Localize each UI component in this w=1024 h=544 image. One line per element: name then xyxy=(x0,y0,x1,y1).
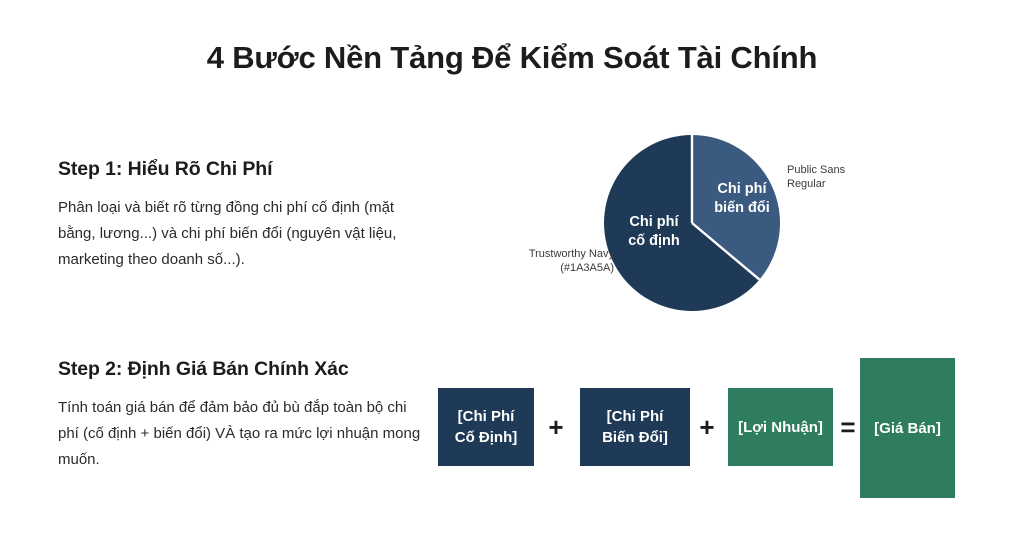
formula-term-profit-label: [Lợi Nhuận] xyxy=(738,417,823,438)
step-1-heading: Step 1: Hiểu Rõ Chi Phí xyxy=(58,158,430,181)
annotation-navy-color-line1: Trustworthy Navy xyxy=(529,248,614,260)
annotation-font-note-line2: Regular xyxy=(787,178,826,190)
step-2-block: Step 2: Định Giá Bán Chính Xác Tính toán… xyxy=(58,358,430,473)
pie-label-fixed-cost-line2: cố định xyxy=(628,233,680,249)
annotation-navy-color: Trustworthy Navy (#1A3A5A) xyxy=(486,247,614,275)
slide-canvas: 4 Bước Nền Tảng Để Kiểm Soát Tài Chính S… xyxy=(0,0,1024,544)
formula-term-selling-price-label: [Giá Bán] xyxy=(874,418,941,439)
page-title: 4 Bước Nền Tảng Để Kiểm Soát Tài Chính xyxy=(0,40,1024,76)
pie-label-variable-cost: Chi phí biến đổi xyxy=(700,180,784,218)
step-2-body: Tính toán giá bán để đảm bảo đủ bù đắp t… xyxy=(58,395,430,473)
formula-term-selling-price: [Giá Bán] xyxy=(860,358,955,498)
formula-term-fixed-cost-line1: [Chi Phí xyxy=(458,408,515,425)
annotation-font-note: Public Sans Regular xyxy=(787,163,907,191)
formula-term-variable-cost: [Chi Phí Biến Đổi] xyxy=(580,388,690,466)
pie-label-variable-cost-line2: biến đổi xyxy=(714,200,770,216)
pie-label-fixed-cost-line1: Chi phí xyxy=(629,214,678,230)
formula-term-variable-cost-line2: Biến Đổi] xyxy=(602,429,668,446)
pricing-formula: [Chi Phí Cố Định] + [Chi Phí Biến Đổi] +… xyxy=(425,340,1000,515)
step-1-body: Phân loại và biết rõ từng đồng chi phí c… xyxy=(58,195,430,273)
step-1-block: Step 1: Hiểu Rõ Chi Phí Phân loại và biế… xyxy=(58,158,430,273)
pie-label-variable-cost-line1: Chi phí xyxy=(717,181,766,197)
formula-operator-equals: = xyxy=(835,388,861,466)
formula-operator-plus-2: + xyxy=(694,388,720,466)
formula-term-fixed-cost-line2: Cố Định] xyxy=(455,429,517,446)
formula-term-fixed-cost: [Chi Phí Cố Định] xyxy=(438,388,534,466)
pie-label-fixed-cost: Chi phí cố định xyxy=(608,213,700,251)
formula-term-variable-cost-line1: [Chi Phí xyxy=(607,408,664,425)
formula-operator-plus-1: + xyxy=(543,388,569,466)
formula-term-profit: [Lợi Nhuận] xyxy=(728,388,833,466)
annotation-navy-color-line2: (#1A3A5A) xyxy=(560,262,614,274)
annotation-font-note-line1: Public Sans xyxy=(787,164,845,176)
step-2-heading: Step 2: Định Giá Bán Chính Xác xyxy=(58,358,430,381)
